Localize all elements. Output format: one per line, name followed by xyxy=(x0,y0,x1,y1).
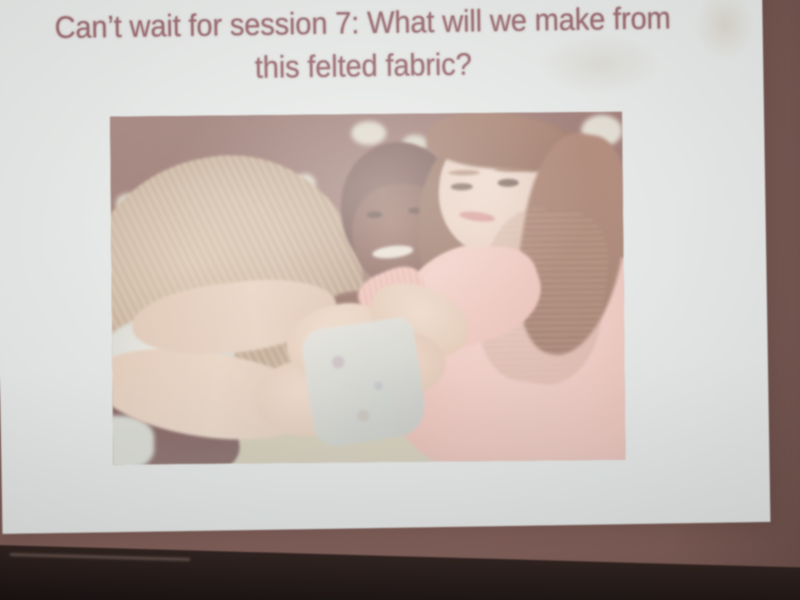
photo-dark-haired-child-eye-left xyxy=(367,211,382,217)
projection-screen: Can’t wait for session 7: What will we m… xyxy=(0,0,770,534)
slide-title: Can’t wait for session 7: What will we m… xyxy=(33,0,692,93)
projected-slide-photo: Can’t wait for session 7: What will we m… xyxy=(0,0,800,600)
photo-girl-eye-right xyxy=(497,179,519,187)
slide-photo xyxy=(110,112,625,465)
screen-smudge xyxy=(694,0,755,61)
photo-girl-eyebrow-right xyxy=(495,167,526,172)
photo-felted-fabric-flecks xyxy=(299,315,428,449)
